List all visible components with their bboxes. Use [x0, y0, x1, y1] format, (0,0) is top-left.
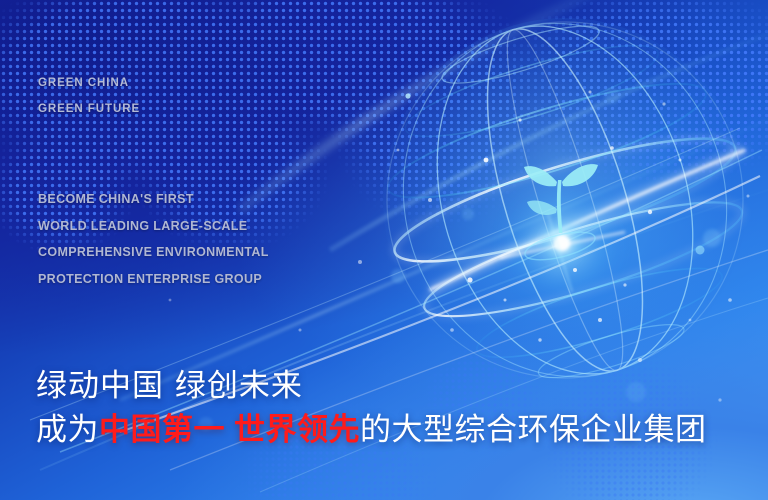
- headline-line-1: 绿动中国 绿创未来: [36, 364, 707, 408]
- globe-halo: [383, 18, 747, 382]
- eyebrow-line-2: GREEN FUTURE: [38, 96, 140, 122]
- globe-meridian-rings: [360, 0, 768, 417]
- sprout-leaf-right: [562, 164, 598, 186]
- sprout-leaf-lower: [527, 200, 557, 214]
- headline-highlight-a: 中国第一: [99, 412, 225, 448]
- headline-line-2: 成为中国第一世界领先的大型综合环保企业集团: [36, 408, 707, 452]
- headline-suffix: 的大型综合环保企业集团: [360, 412, 707, 448]
- tagline-line-4: PROTECTION ENTERPRISE GROUP: [38, 266, 269, 293]
- sprout-leaf-left: [524, 166, 557, 186]
- sprout-stem: [557, 180, 563, 233]
- eyebrow-text: GREEN CHINA GREEN FUTURE: [38, 70, 140, 122]
- core-burst: [500, 185, 625, 301]
- headline-highlight-b: 世界领先: [234, 412, 360, 448]
- eyebrow-line-1: GREEN CHINA: [38, 70, 140, 96]
- tagline-text: BECOME CHINA'S FIRST WORLD LEADING LARGE…: [38, 186, 269, 292]
- headline: 绿动中国 绿创未来 成为中国第一世界领先的大型综合环保企业集团: [36, 364, 707, 452]
- sprout-seedling: [524, 164, 598, 233]
- tagline-line-3: COMPREHENSIVE ENVIRONMENTAL: [38, 239, 269, 266]
- globe-latitude-rings: [346, 0, 768, 417]
- tagline-line-1: BECOME CHINA'S FIRST: [38, 186, 269, 213]
- tagline-line-2: WORLD LEADING LARGE-SCALE: [38, 213, 269, 240]
- hero-banner: GREEN CHINA GREEN FUTURE BECOME CHINA'S …: [0, 0, 768, 500]
- headline-prefix: 成为: [36, 412, 99, 448]
